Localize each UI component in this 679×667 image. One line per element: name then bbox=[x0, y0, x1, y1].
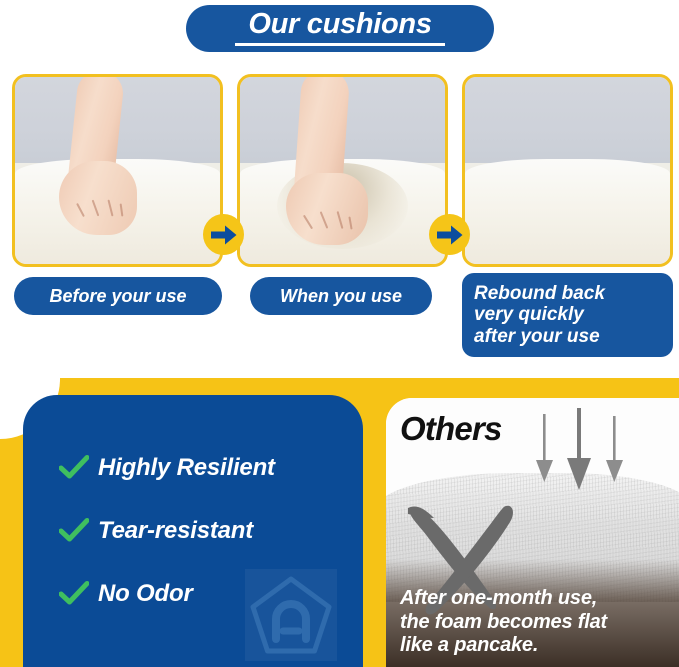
step-panel-after bbox=[462, 74, 673, 267]
ours-feature-card: Highly Resilient Tear-resistant No Odor bbox=[23, 395, 363, 667]
feature-item: Tear-resistant bbox=[59, 504, 359, 558]
knuckle-lines bbox=[71, 205, 127, 227]
title-underline bbox=[235, 43, 445, 46]
caption-after-line-3: after your use bbox=[474, 326, 600, 347]
others-caption-line-2: the foam becomes flat bbox=[400, 611, 607, 634]
caption-before: Before your use bbox=[14, 277, 222, 315]
others-title: Others bbox=[400, 410, 502, 448]
page-title: Our cushions bbox=[248, 10, 431, 39]
photo-after bbox=[465, 77, 670, 264]
right-arrow-icon bbox=[429, 214, 470, 255]
step-panel-before bbox=[12, 74, 223, 267]
step-panel-during bbox=[237, 74, 448, 267]
caption-after-line-1: Rebound back bbox=[474, 283, 605, 304]
check-icon bbox=[59, 581, 89, 607]
knuckle-lines bbox=[298, 217, 356, 239]
photo-before bbox=[15, 77, 220, 264]
caption-after: Rebound back very quickly after your use bbox=[462, 273, 673, 357]
others-caption-line-1: After one-month use, bbox=[400, 587, 607, 610]
others-caption: After one-month use, the foam becomes fl… bbox=[400, 587, 607, 657]
photo-during bbox=[240, 77, 445, 264]
feature-label: No Odor bbox=[98, 580, 193, 608]
others-caption-line-3: like a pancake. bbox=[400, 634, 607, 657]
check-icon bbox=[59, 455, 89, 481]
caption-after-line-2: very quickly bbox=[474, 304, 584, 325]
pentagon-house-logo bbox=[245, 569, 337, 661]
right-arrow-icon bbox=[203, 214, 244, 255]
foam-surface bbox=[465, 159, 670, 264]
feature-item: Highly Resilient bbox=[59, 441, 359, 495]
photo-backdrop bbox=[465, 77, 670, 163]
step-panels bbox=[0, 74, 679, 267]
feature-label: Highly Resilient bbox=[98, 454, 275, 482]
check-icon bbox=[59, 518, 89, 544]
feature-label: Tear-resistant bbox=[98, 517, 253, 545]
down-arrow-group bbox=[526, 406, 636, 506]
page-title-pill: Our cushions bbox=[186, 5, 494, 52]
others-comparison-card: Others After one-mont bbox=[386, 398, 679, 667]
caption-during: When you use bbox=[250, 277, 432, 315]
